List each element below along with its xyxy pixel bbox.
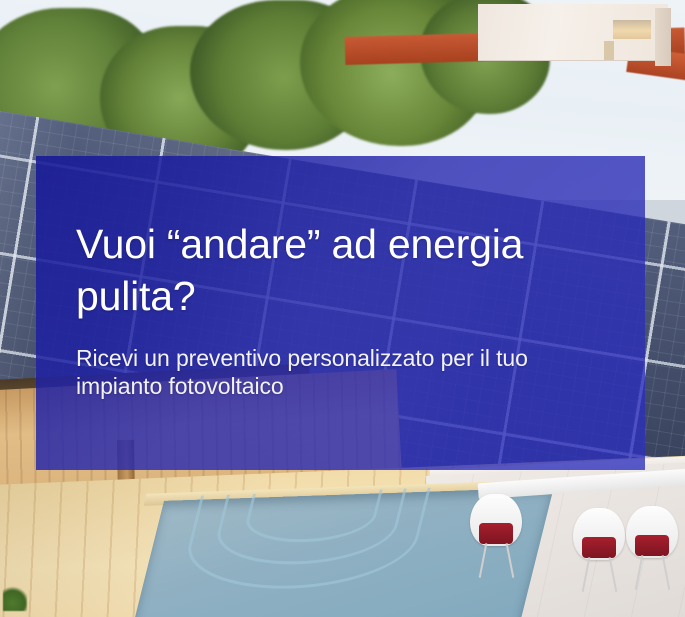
outdoor-chair: [470, 494, 522, 578]
chair-legs: [631, 555, 673, 590]
building-door: [604, 41, 614, 60]
outdoor-chair: [573, 508, 625, 592]
chair-legs: [475, 543, 517, 578]
ground-plant: [3, 585, 27, 611]
chair-legs: [578, 557, 620, 592]
page-title: Vuoi “andare” ad energia pulita?: [76, 218, 621, 322]
headline-overlay-card: Vuoi “andare” ad energia pulita? Ricevi …: [36, 156, 645, 470]
chair-cushion: [582, 537, 615, 559]
chair-cushion: [635, 535, 668, 557]
hero-banner: Vuoi “andare” ad energia pulita? Ricevi …: [0, 0, 685, 617]
stucco-building-side: [655, 8, 671, 66]
building-window: [613, 18, 651, 39]
overlay-content: Vuoi “andare” ad energia pulita? Ricevi …: [36, 156, 645, 470]
outdoor-chair: [626, 506, 678, 590]
chair-cushion: [479, 523, 512, 545]
page-subtitle: Ricevi un preventivo personalizzato per …: [76, 344, 576, 400]
